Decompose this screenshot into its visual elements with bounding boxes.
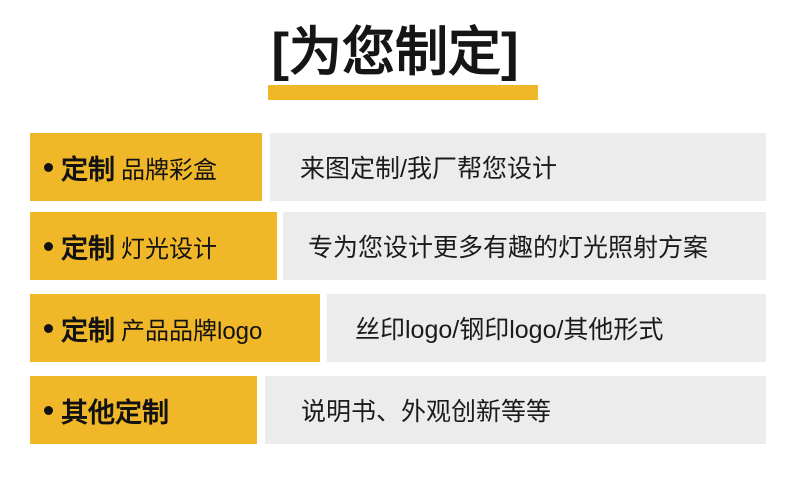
feature-description-panel: 丝印logo/钢印logo/其他形式 (327, 294, 766, 362)
feature-tag: 定制 产品品牌logo (30, 294, 320, 362)
page-title: [为您制定] (0, 22, 790, 84)
feature-description: 专为您设计更多有趣的灯光照射方案 (308, 228, 708, 264)
feature-tag-light: 品牌彩盒 (121, 150, 217, 185)
title-block: [为您制定] (0, 22, 790, 102)
feature-tag-strong: 定制 (61, 309, 115, 348)
feature-description-panel: 来图定制/我厂帮您设计 (270, 133, 766, 201)
feature-row: 定制 产品品牌logo 丝印logo/钢印logo/其他形式 (30, 294, 766, 362)
feature-tag-light: 灯光设计 (121, 229, 217, 264)
feature-tag-light: 产品品牌logo (121, 311, 262, 346)
customization-banner: [为您制定] 定制 品牌彩盒 来图定制/我厂帮您设计 定制 灯光设计 专为您设计… (0, 0, 790, 485)
feature-tag-strong: 定制 (61, 148, 115, 187)
feature-row: 定制 品牌彩盒 来图定制/我厂帮您设计 (30, 133, 766, 201)
feature-description: 说明书、外观创新等等 (301, 392, 551, 428)
feature-tag-strong: 定制 (61, 227, 115, 266)
feature-tag: 定制 品牌彩盒 (30, 133, 262, 201)
feature-row: 定制 灯光设计 专为您设计更多有趣的灯光照射方案 (30, 212, 766, 280)
bullet-icon (44, 163, 53, 172)
feature-description-panel: 专为您设计更多有趣的灯光照射方案 (283, 212, 766, 280)
feature-description: 来图定制/我厂帮您设计 (300, 149, 557, 185)
feature-description: 丝印logo/钢印logo/其他形式 (355, 310, 663, 346)
feature-description-panel: 说明书、外观创新等等 (265, 376, 766, 444)
bullet-icon (44, 242, 53, 251)
feature-tag-strong: 其他定制 (61, 391, 169, 430)
title-underline-bar (268, 85, 538, 100)
bullet-icon (44, 324, 53, 333)
bullet-icon (44, 406, 53, 415)
feature-tag: 定制 灯光设计 (30, 212, 277, 280)
feature-row: 其他定制 说明书、外观创新等等 (30, 376, 766, 444)
feature-tag: 其他定制 (30, 376, 257, 444)
